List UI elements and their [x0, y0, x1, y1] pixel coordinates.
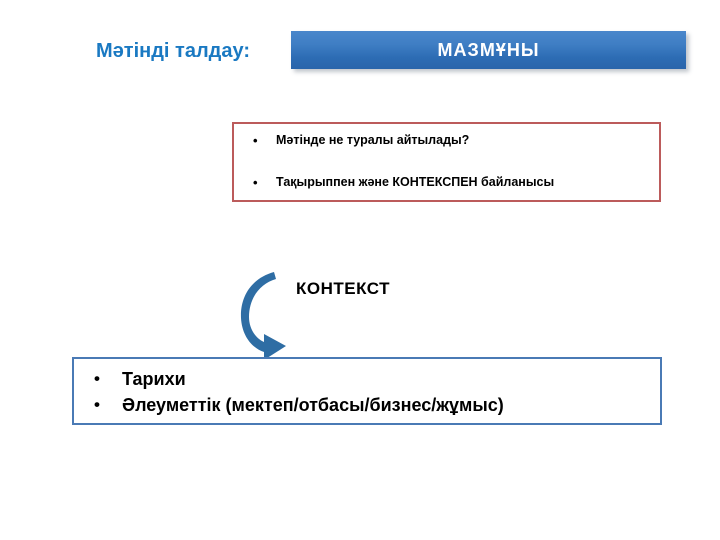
- context-box: • Тарихи • Әлеуметтік (мектеп/отбасы/биз…: [72, 357, 662, 425]
- context-list: • Тарихи • Әлеуметтік (мектеп/отбасы/биз…: [80, 366, 654, 418]
- bullet-icon: •: [94, 392, 100, 418]
- question-list: • Мәтінде не туралы айтылады? • Тақырыпп…: [240, 132, 653, 191]
- list-item-label: Тарихи: [122, 369, 186, 389]
- list-item-label: Тақырыппен және КОНТЕКСПЕН байланысы: [276, 175, 554, 189]
- question-box: • Мәтінде не туралы айтылады? • Тақырыпп…: [232, 122, 661, 202]
- content-banner-label: МАЗМҰНЫ: [438, 40, 540, 61]
- bullet-icon: •: [94, 366, 100, 392]
- page-title: Мәтінді талдау:: [96, 38, 250, 64]
- slide-canvas: Мәтінді талдау: МАЗМҰНЫ • Мәтінде не тур…: [0, 0, 720, 540]
- context-label: КОНТЕКСТ: [296, 278, 390, 300]
- content-banner: МАЗМҰНЫ: [291, 31, 686, 69]
- list-item-label: Мәтінде не туралы айтылады?: [276, 133, 469, 147]
- list-item: • Мәтінде не туралы айтылады?: [240, 132, 653, 149]
- list-item: • Тақырыппен және КОНТЕКСПЕН байланысы: [240, 174, 653, 191]
- curved-arrow-icon: [238, 268, 292, 360]
- bullet-icon: •: [253, 174, 258, 191]
- list-item: • Тарихи: [80, 366, 654, 392]
- list-item: • Әлеуметтік (мектеп/отбасы/бизнес/жұмыс…: [80, 392, 654, 418]
- list-item-label: Әлеуметтік (мектеп/отбасы/бизнес/жұмыс): [122, 395, 504, 415]
- bullet-icon: •: [253, 132, 258, 149]
